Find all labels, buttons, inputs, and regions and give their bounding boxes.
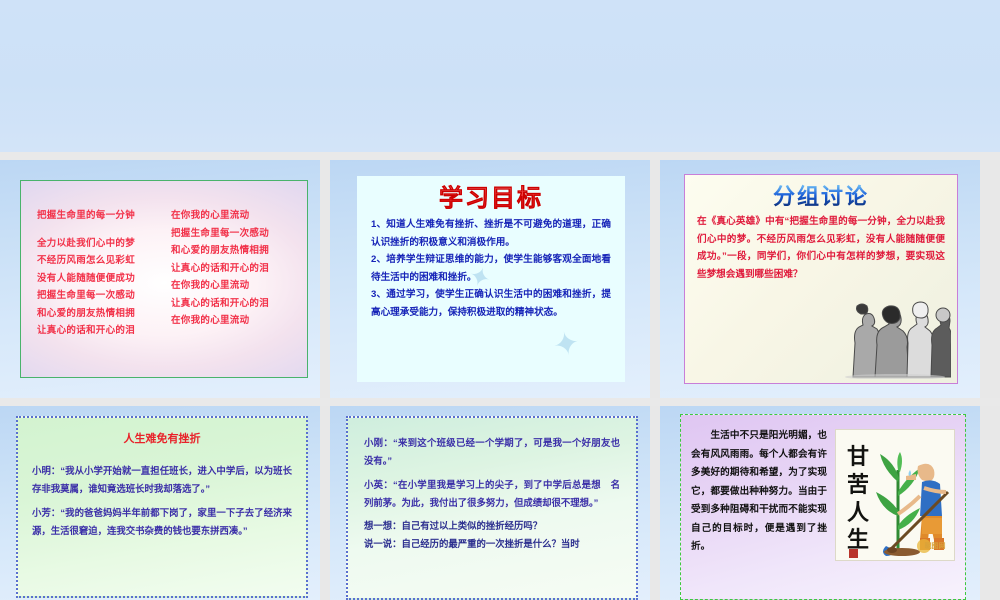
cases-box: 小刚：“来到这个班级已经一个学期了，可是我一个好朋友也没有。” 小英：“在小学里…	[346, 416, 638, 600]
lyric-line: 在你我的心里流动	[171, 312, 291, 330]
slide-thumbnail-cases[interactable]: 小刚：“来到这个班级已经一个学期了，可是我一个好朋友也没有。” 小英：“在小学里…	[330, 406, 650, 600]
case-question: 说一说：自己经历的最严重的一次挫折是什么？当时	[364, 535, 620, 553]
row-gap-1	[0, 152, 1000, 160]
farmer-cartoon-image: 甘 苦 人 生	[835, 429, 955, 561]
lyric-line: 把握生命里每一次感动	[37, 287, 157, 305]
objective-item: 1、知道人生难免有挫折、挫折是不可避免的道理，正确认识挫折的积极意义和消极作用。	[371, 216, 611, 251]
setbacks-heading: 人生难免有挫折	[32, 428, 292, 450]
svg-text:生: 生	[847, 527, 869, 552]
lyric-line: 让真心的话和开心的泪	[171, 260, 291, 278]
lyrics-column-right: 在你我的心里流动 把握生命里每一次感动 和心爱的朋友热情相拥 让真心的话和开心的…	[171, 207, 291, 363]
svg-text:苦: 苦	[847, 472, 869, 497]
slide-thumbnail-discussion[interactable]: 分组讨论 在《真心英雄》中有“把握生命里的每一分钟，全力以赴我们心中的梦。不经历…	[660, 160, 980, 398]
setbacks-box: 人生难免有挫折 小明：“我从小学开始就一直担任班长，进入中学后，以为班长存非我莫…	[16, 416, 308, 598]
setback-story: 小芳：“我的爸爸妈妈半年前都下岗了，家里一下子去了经济来源，生活很窘迫，连我交书…	[32, 504, 292, 539]
case-story: 小刚：“来到这个班级已经一个学期了，可是我一个好朋友也没有。”	[364, 434, 620, 469]
setback-story: 小明：“我从小学开始就一直担任班长，进入中学后，以为班长存非我莫属，谁知竟选班长…	[32, 462, 292, 497]
objectives-title: 学习目标	[371, 182, 611, 216]
lyric-line: 没有人能随随便便成功	[37, 270, 157, 288]
lyric-line: 在你我的心里流动	[171, 277, 291, 295]
lyric-line: 和心爱的朋友热情相拥	[171, 242, 291, 260]
slide-row-partial-top	[0, 0, 1000, 152]
lyrics-column-left: 把握生命里的每一分钟 全力以赴我们心中的梦 不经历风雨怎么见彩虹 没有人能随随便…	[37, 207, 157, 363]
slide-thumbnail-grid: 把握生命里的每一分钟 全力以赴我们心中的梦 不经历风雨怎么见彩虹 没有人能随随便…	[0, 0, 1000, 600]
objectives-box: 学习目标 1、知道人生难免有挫折、挫折是不可避免的道理，正确认识挫折的积极意义和…	[357, 176, 625, 382]
lyric-line: 不经历风雨怎么见彩虹	[37, 252, 157, 270]
slide-thumbnail-lyrics[interactable]: 把握生命里的每一分钟 全力以赴我们心中的梦 不经历风雨怎么见彩虹 没有人能随随便…	[0, 160, 320, 398]
case-story: 小英：“在小学里我是学习上的尖子，到了中学后总是想 名列前茅。为此，我付出了很多…	[364, 476, 620, 511]
slide-thumbnail-bittersweet[interactable]: 生活中不只是阳光明媚，也会有风风雨雨。每个人都会有许多美好的期待和希望，为了实现…	[660, 406, 980, 600]
slide-thumbnail-setbacks[interactable]: 人生难免有挫折 小明：“我从小学开始就一直担任班长，进入中学后，以为班长存非我莫…	[0, 406, 320, 600]
objective-item: 3、通过学习，使学生正确认识生活中的困难和挫折，提高心理承受能力，保持积极进取的…	[371, 286, 611, 321]
discussion-box: 分组讨论 在《真心英雄》中有“把握生命里的每一分钟，全力以赴我们心中的梦。不经历…	[684, 174, 958, 384]
lyrics-box: 把握生命里的每一分钟 全力以赴我们心中的梦 不经历风雨怎么见彩虹 没有人能随随便…	[20, 180, 308, 378]
slide-thumbnail-objectives[interactable]: 学习目标 1、知道人生难免有挫折、挫折是不可避免的道理，正确认识挫折的积极意义和…	[330, 160, 650, 398]
students-discussion-illustration	[839, 287, 951, 379]
lyric-line: 把握生命里每一次感动	[171, 225, 291, 243]
lyric-spacer	[37, 225, 157, 235]
bittersweet-body: 生活中不只是阳光明媚，也会有风风雨雨。每个人都会有许多美好的期待和希望，为了实现…	[691, 427, 827, 599]
bittersweet-box: 生活中不只是阳光明媚，也会有风风雨雨。每个人都会有许多美好的期待和希望，为了实现…	[680, 414, 966, 600]
svg-text:甘: 甘	[847, 444, 869, 469]
lyric-line: 把握生命里的每一分钟	[37, 207, 157, 225]
svg-text:昵图网: 昵图网	[925, 541, 946, 550]
svg-text:人: 人	[847, 500, 869, 525]
starfish-icon: ✦	[550, 326, 583, 363]
discussion-title: 分组讨论	[697, 181, 945, 213]
row-gap-2	[0, 398, 1000, 406]
lyric-line: 全力以赴我们心中的梦	[37, 235, 157, 253]
lyric-line: 让真心的话和开心的泪	[37, 322, 157, 340]
discussion-body: 在《真心英雄》中有“把握生命里的每一分钟，全力以赴我们心中的梦。不经历风雨怎么见…	[697, 213, 945, 283]
lyric-line: 在你我的心里流动	[171, 207, 291, 225]
case-question: 想一想：自己有过以上类似的挫折经历吗？	[364, 517, 620, 535]
lyric-line: 让真心的话和开心的泪	[171, 295, 291, 313]
lyric-line: 和心爱的朋友热情相拥	[37, 305, 157, 323]
